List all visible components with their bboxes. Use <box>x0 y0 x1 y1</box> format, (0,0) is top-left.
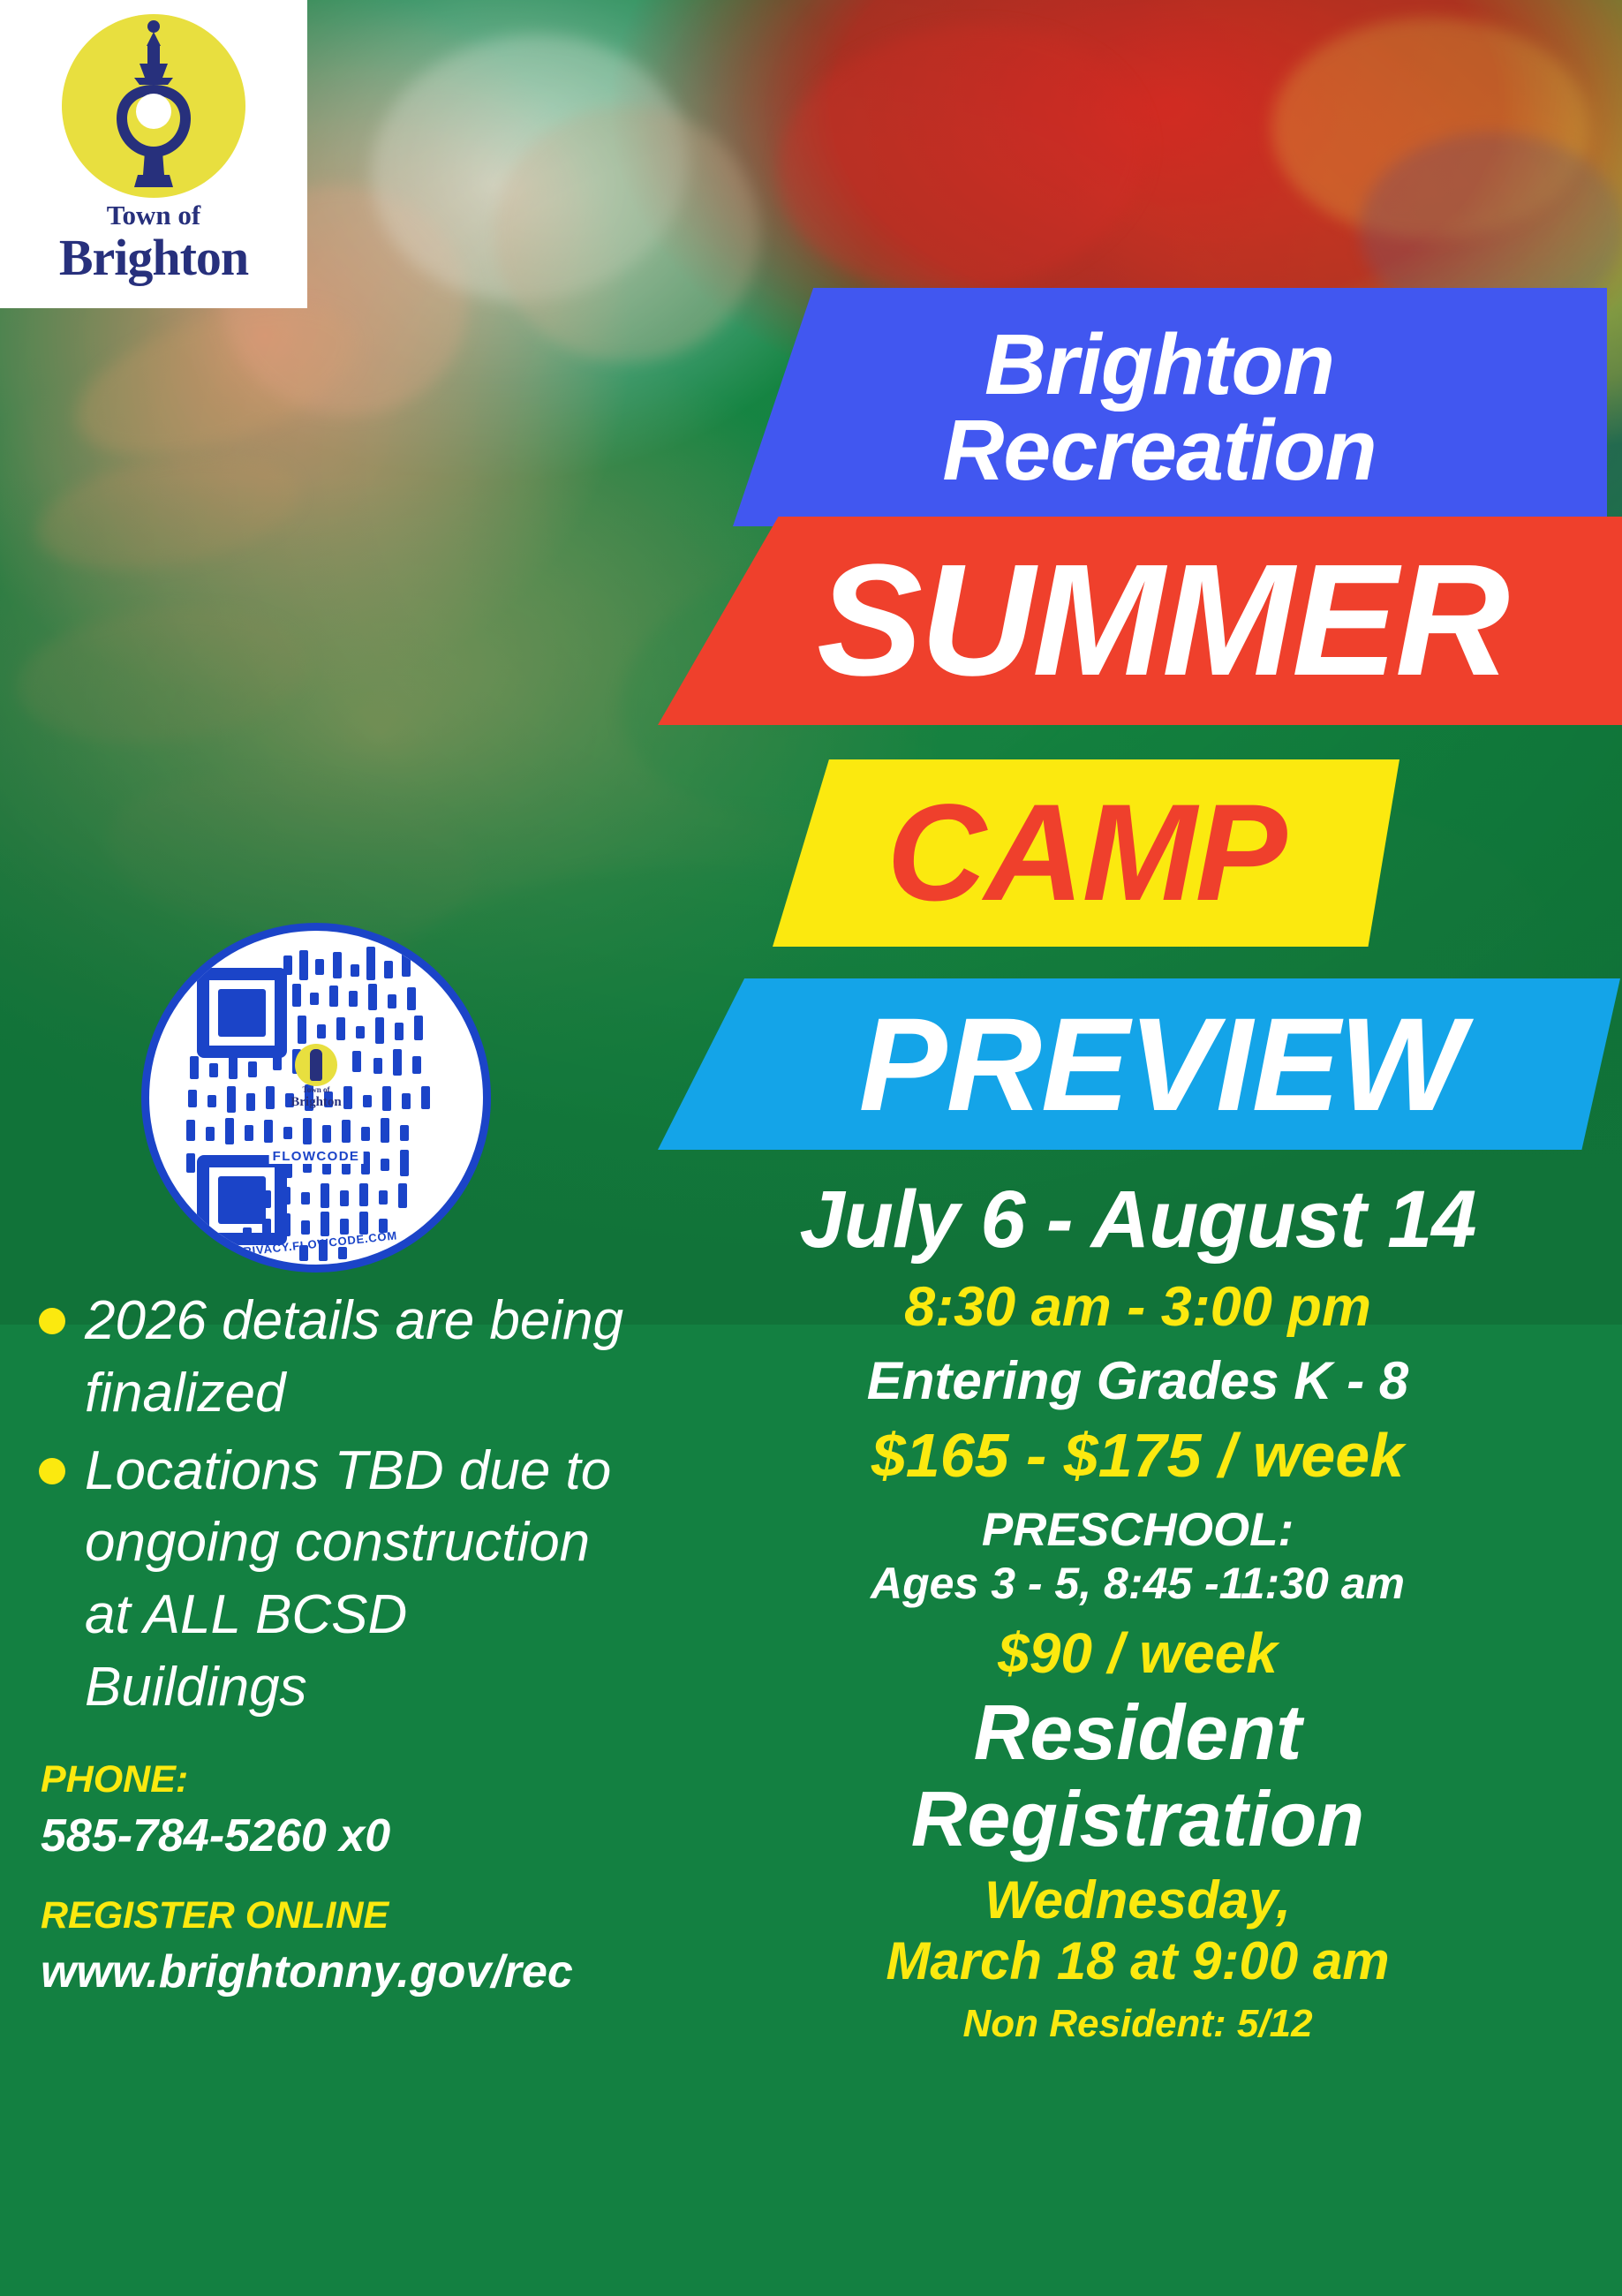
registration-day: Wednesday, <box>653 1870 1622 1930</box>
camp-preview-poster: Town of Brighton BrightonRecreation SUMM… <box>0 0 1622 2296</box>
qr-center-brighton-label: Brighton <box>289 1095 343 1110</box>
contact-block: PHONE: 585-784-5260 x0 REGISTER ONLINE w… <box>0 1754 636 2003</box>
register-online-label: REGISTER ONLINE <box>41 1890 636 1941</box>
bullet-text: 2026 details are being finalized <box>85 1290 623 1424</box>
bullet-text: Locations TBD due to ongoing constructio… <box>85 1440 611 1718</box>
resident-registration-line2: Registration <box>653 1780 1622 1858</box>
banner-camp-text: CAMP <box>886 784 1285 922</box>
logo-town-label: Town of <box>0 200 307 231</box>
qr-finder-bottom-left <box>197 1155 287 1245</box>
non-resident-date: Non Resident: 5/12 <box>653 2002 1622 2045</box>
camp-hours: 8:30 am - 3:00 pm <box>653 1276 1622 1339</box>
phone-label: PHONE: <box>41 1754 636 1805</box>
left-info-column: 2026 details are being finalized Locatio… <box>0 1285 636 2003</box>
bullet-dot-icon <box>39 1308 65 1334</box>
qr-center-town-label: Town of <box>289 1086 343 1095</box>
preschool-ages: Ages 3 - 5, 8:45 -11:30 am <box>653 1559 1622 1608</box>
website-link[interactable]: www.brightonny.gov/rec <box>41 1941 636 2003</box>
banner-camp: CAMP <box>773 759 1399 947</box>
banner-brighton-recreation: BrightonRecreation <box>733 288 1607 526</box>
bullet-dot-icon <box>39 1458 65 1484</box>
banner-line-recreation: Recreation <box>942 407 1376 493</box>
banner-recreation-text: BrightonRecreation <box>942 321 1397 493</box>
list-item: Locations TBD due to ongoing constructio… <box>0 1435 636 1724</box>
right-details-column: July 6 - August 14 8:30 am - 3:00 pm Ent… <box>653 1174 1622 2045</box>
qr-flowcode-label: FLOWCODE <box>269 1149 364 1164</box>
banner-preview-text: PREVIEW <box>815 998 1464 1130</box>
phone-number[interactable]: 585-784-5260 x0 <box>41 1805 636 1867</box>
qr-finder-top-left <box>197 968 287 1058</box>
spacer <box>41 1867 636 1890</box>
camp-grades: Entering Grades K - 8 <box>653 1351 1622 1410</box>
registration-date: March 18 at 9:00 am <box>653 1931 1622 1990</box>
qr-center-logo: Town of Brighton <box>289 1044 343 1109</box>
banner-summer-text: SUMMER <box>764 541 1516 700</box>
qr-flowcode[interactable]: Town of Brighton FLOWCODE PRIVACY.FLOWCO… <box>141 923 491 1273</box>
banner-line-brighton: Brighton <box>942 321 1376 407</box>
notes-bullet-list: 2026 details are being finalized Locatio… <box>0 1285 636 1724</box>
banner-preview: PREVIEW <box>658 978 1620 1150</box>
preschool-price: $90 / week <box>653 1622 1622 1686</box>
urn-glyph <box>108 19 200 193</box>
camp-dates: July 6 - August 14 <box>653 1174 1622 1265</box>
preschool-label: PRESCHOOL: <box>653 1504 1622 1556</box>
list-item: 2026 details are being finalized <box>0 1285 636 1430</box>
brighton-urn-icon <box>62 14 245 198</box>
resident-registration-line1: Resident <box>653 1694 1622 1771</box>
qr-center-urn-icon <box>295 1044 337 1086</box>
banner-summer: SUMMER <box>658 517 1622 725</box>
camp-price: $165 - $175 / week <box>653 1421 1622 1490</box>
logo-brighton-label: Brighton <box>0 228 307 287</box>
town-logo-card: Town of Brighton <box>0 0 307 308</box>
